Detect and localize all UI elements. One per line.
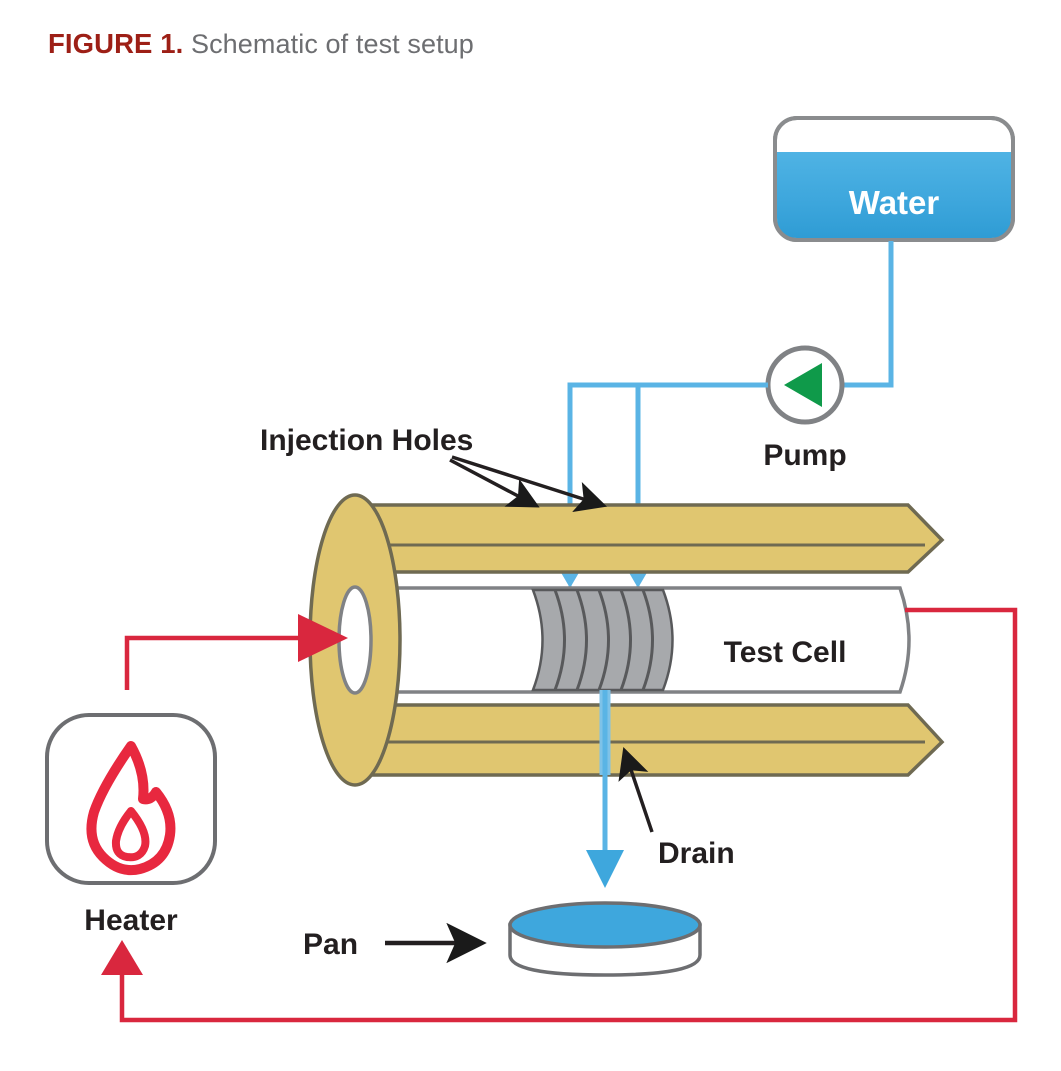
drain-arrow-icon (586, 850, 624, 888)
injection-holes-label: Injection Holes (260, 424, 473, 457)
test-cell-tube: Test Cell (310, 495, 942, 785)
tube-bottom-wall (355, 705, 942, 775)
tube-top-wall (355, 505, 942, 572)
pan-callout: Pan (303, 928, 480, 961)
schematic-diagram: Water Pump (0, 0, 1061, 1071)
injection-holes-callout: Injection Holes (260, 424, 602, 505)
tube-coil-section (533, 590, 673, 690)
figure-container: FIGURE 1. Schematic of test setup Water (0, 0, 1061, 1071)
pan (510, 903, 700, 975)
drain-label: Drain (658, 837, 735, 870)
pump: Pump (763, 348, 846, 472)
pipe-tank-to-pump (838, 241, 891, 385)
water-tank-label: Water (849, 184, 940, 221)
injection-holes-leader-right (452, 457, 602, 505)
heat-return-arrow-icon (101, 940, 143, 975)
heater-label: Heater (84, 904, 178, 937)
pan-water-surface (510, 903, 700, 947)
heater: Heater (47, 715, 215, 937)
injection-holes-leader-left (450, 460, 535, 505)
pump-label: Pump (763, 439, 846, 472)
heat-loop-supply-line (127, 638, 300, 690)
water-tank: Water (775, 118, 1013, 240)
pan-label: Pan (303, 928, 358, 961)
test-cell-label: Test Cell (724, 636, 847, 669)
water-supply-pipe (838, 241, 891, 385)
